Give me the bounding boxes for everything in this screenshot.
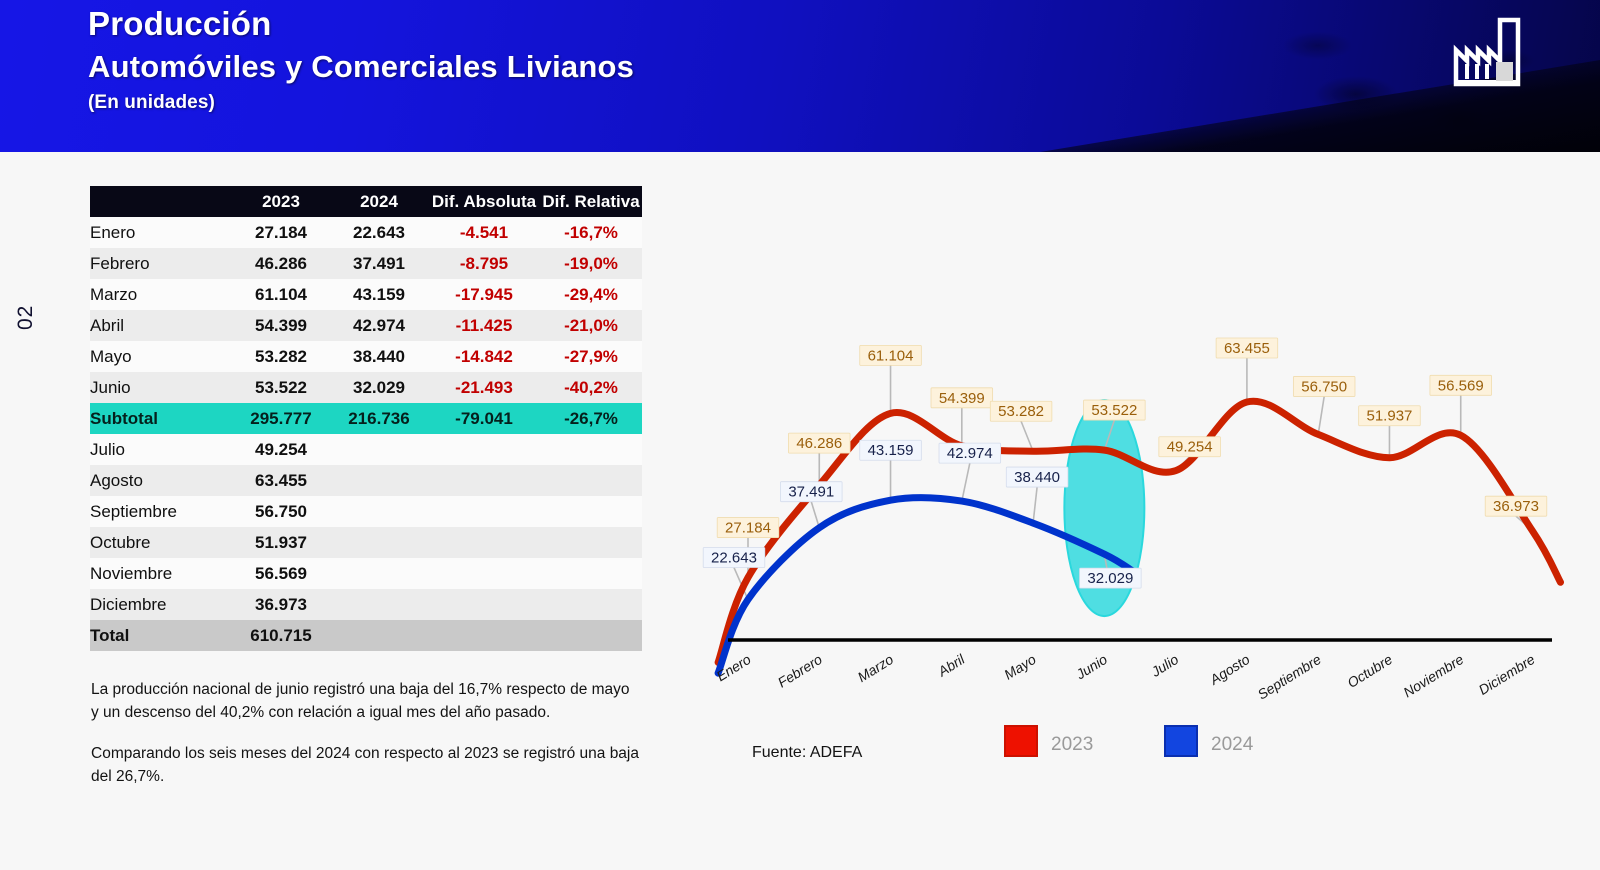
cell-dif-absoluta [428,589,540,620]
table-row: Abril 54.399 42.974 -11.425 -21,0% [90,310,642,341]
note-paragraph-2: Comparando los seis meses del 2024 con r… [91,742,641,788]
cell-total-dif-relativa [540,620,642,651]
cell-subtotal-label: Subtotal [90,403,232,434]
cell-2024 [330,465,428,496]
x-axis-tick-label: Marzo [855,651,897,685]
cell-2024: 38.440 [330,341,428,372]
svg-text:36.973: 36.973 [1493,498,1539,515]
cell-2023: 27.184 [232,217,330,248]
svg-text:56.569: 56.569 [1438,377,1484,394]
svg-text:54.399: 54.399 [939,390,985,407]
table-row: Noviembre 56.569 [90,558,642,589]
cell-dif-relativa [540,589,642,620]
legend-swatch-2023 [1005,726,1037,756]
svg-text:49.254: 49.254 [1167,439,1213,456]
cell-month: Octubre [90,527,232,558]
table-body: Enero 27.184 22.643 -4.541 -16,7% Febrer… [90,217,642,651]
cell-dif-relativa: -19,0% [540,248,642,279]
svg-text:38.440: 38.440 [1014,469,1060,486]
cell-month: Septiembre [90,496,232,527]
svg-text:22.643: 22.643 [711,550,757,567]
x-axis-tick-label: Febrero [775,651,825,691]
x-axis-tick-labels: EneroFebreroMarzoAbrilMayoJunioJulioAgos… [713,651,1537,703]
page-header: Producción Automóviles y Comerciales Liv… [0,0,1600,152]
cell-dif-relativa: -21,0% [540,310,642,341]
table-row-total: Total 610.715 [90,620,642,651]
table-row: Junio 53.522 32.029 -21.493 -40,2% [90,372,642,403]
table-header: 2023 2024 Dif. Absoluta Dif. Relativa [90,186,642,217]
production-line-chart: 27.18446.28661.10454.39953.28253.52249.2… [700,170,1580,860]
cell-2023: 61.104 [232,279,330,310]
table-row: Diciembre 36.973 [90,589,642,620]
cell-month: Diciembre [90,589,232,620]
cell-month: Enero [90,217,232,248]
table-row: Julio 49.254 [90,434,642,465]
x-axis-tick-label: Abril [934,651,968,680]
cell-month: Febrero [90,248,232,279]
cell-2024 [330,434,428,465]
production-table-container: 2023 2024 Dif. Absoluta Dif. Relativa En… [90,186,642,651]
table-row: Agosto 63.455 [90,465,642,496]
cell-2023: 49.254 [232,434,330,465]
cell-dif-absoluta [428,527,540,558]
cell-dif-relativa: -40,2% [540,372,642,403]
svg-text:53.522: 53.522 [1091,402,1137,419]
cell-dif-absoluta: -4.541 [428,217,540,248]
col-header-2024: 2024 [330,186,428,217]
cell-dif-relativa [540,558,642,589]
cell-dif-relativa [540,465,642,496]
cell-dif-relativa: -16,7% [540,217,642,248]
table-row: Enero 27.184 22.643 -4.541 -16,7% [90,217,642,248]
svg-text:56.750: 56.750 [1301,378,1347,395]
cell-2024: 43.159 [330,279,428,310]
cell-subtotal-dif-relativa: -26,7% [540,403,642,434]
cell-subtotal-2024: 216.736 [330,403,428,434]
cell-2024: 42.974 [330,310,428,341]
cell-month: Julio [90,434,232,465]
svg-text:51.937: 51.937 [1367,408,1413,425]
page-subtitle-units: (En unidades) [88,88,634,118]
chart-legend: 20232024 [1005,726,1254,756]
svg-text:43.159: 43.159 [868,442,914,459]
header-title-block: Producción Automóviles y Comerciales Liv… [88,2,634,118]
svg-text:32.029: 32.029 [1087,570,1133,587]
cell-month: Agosto [90,465,232,496]
svg-text:53.282: 53.282 [998,403,1044,420]
cell-2024 [330,558,428,589]
cell-2023: 56.569 [232,558,330,589]
cell-2024 [330,496,428,527]
cell-2023: 46.286 [232,248,330,279]
table-row: Febrero 46.286 37.491 -8.795 -19,0% [90,248,642,279]
table-header-row: 2023 2024 Dif. Absoluta Dif. Relativa [90,186,642,217]
col-header-month [90,186,232,217]
legend-swatch-2024 [1165,726,1197,756]
cell-dif-absoluta: -8.795 [428,248,540,279]
cell-month: Junio [90,372,232,403]
cell-month: Mayo [90,341,232,372]
cell-dif-absoluta [428,465,540,496]
cell-dif-absoluta [428,558,540,589]
x-axis-tick-label: Noviembre [1400,651,1466,701]
col-header-dif-relativa: Dif. Relativa [540,186,642,217]
svg-text:46.286: 46.286 [796,435,842,452]
svg-text:27.184: 27.184 [725,520,771,537]
page-title-line2: Automóviles y Comerciales Livianos [88,46,634,88]
chart-source-label: Fuente: ADEFA [752,744,863,761]
cell-2023: 63.455 [232,465,330,496]
table-row-subtotal: Subtotal 295.777 216.736 -79.041 -26,7% [90,403,642,434]
x-axis-tick-label: Mayo [1001,651,1039,683]
cell-dif-relativa [540,496,642,527]
x-axis-tick-label: Octubre [1344,651,1395,691]
table-row: Mayo 53.282 38.440 -14.842 -27,9% [90,341,642,372]
cell-dif-absoluta: -11.425 [428,310,540,341]
x-axis-tick-label: Diciembre [1476,651,1538,698]
cell-dif-absoluta: -14.842 [428,341,540,372]
svg-text:61.104: 61.104 [868,347,914,364]
svg-text:63.455: 63.455 [1224,340,1270,357]
cell-dif-absoluta: -21.493 [428,372,540,403]
cell-2023: 53.282 [232,341,330,372]
x-axis-tick-label: Julio [1147,651,1181,680]
production-table: 2023 2024 Dif. Absoluta Dif. Relativa En… [90,186,642,651]
chart-svg: 27.18446.28661.10454.39953.28253.52249.2… [700,170,1580,860]
cell-2023: 53.522 [232,372,330,403]
cell-subtotal-2023: 295.777 [232,403,330,434]
cell-dif-absoluta: -17.945 [428,279,540,310]
table-row: Octubre 51.937 [90,527,642,558]
page-title-line1: Producción [88,2,634,46]
table-row: Septiembre 56.750 [90,496,642,527]
cell-dif-relativa: -29,4% [540,279,642,310]
cell-2023: 51.937 [232,527,330,558]
cell-2024 [330,589,428,620]
cell-dif-relativa: -27,9% [540,341,642,372]
legend-label-2023: 2023 [1051,734,1093,755]
svg-text:37.491: 37.491 [788,484,834,501]
cell-dif-relativa [540,527,642,558]
factory-icon [1446,8,1550,109]
legend-label-2024: 2024 [1211,734,1254,755]
cell-2024: 22.643 [330,217,428,248]
x-axis-tick-label: Junio [1072,651,1110,683]
cell-dif-relativa [540,434,642,465]
notes-section: La producción nacional de junio registró… [91,678,641,806]
cell-2024: 32.029 [330,372,428,403]
cell-2023: 36.973 [232,589,330,620]
cell-month: Marzo [90,279,232,310]
cell-total-2023: 610.715 [232,620,330,651]
col-header-2023: 2023 [232,186,330,217]
cell-month: Abril [90,310,232,341]
cell-dif-absoluta [428,434,540,465]
x-axis-tick-label: Agosto [1206,651,1252,688]
note-paragraph-1: La producción nacional de junio registró… [91,678,641,724]
cell-total-2024 [330,620,428,651]
cell-2024: 37.491 [330,248,428,279]
page-number: 02 [14,305,38,330]
cell-month: Noviembre [90,558,232,589]
cell-2023: 54.399 [232,310,330,341]
svg-text:42.974: 42.974 [947,445,993,462]
cell-2024 [330,527,428,558]
slide-page: Producción Automóviles y Comerciales Liv… [0,0,1600,870]
cell-subtotal-dif-absoluta: -79.041 [428,403,540,434]
cell-dif-absoluta [428,496,540,527]
cell-total-label: Total [90,620,232,651]
cell-2023: 56.750 [232,496,330,527]
x-axis-tick-label: Septiembre [1255,651,1324,703]
col-header-dif-absoluta: Dif. Absoluta [428,186,540,217]
cell-total-dif-absoluta [428,620,540,651]
table-row: Marzo 61.104 43.159 -17.945 -29,4% [90,279,642,310]
